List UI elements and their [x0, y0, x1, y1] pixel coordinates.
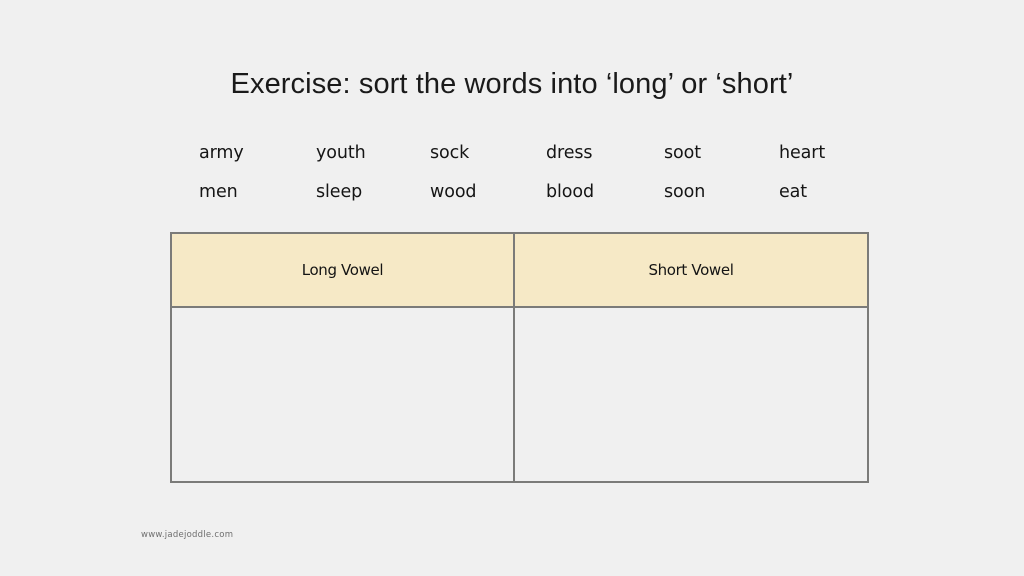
word-item-sleep[interactable]: sleep — [316, 177, 362, 207]
word-item-eat[interactable]: eat — [779, 177, 807, 207]
footer-website-url: www.jadejoddle.com — [141, 530, 233, 540]
word-bank-row: army youth sock dress soot heart — [190, 138, 850, 177]
long-vowel-drop-area[interactable] — [172, 308, 513, 481]
sort-table-cell-long-vowel[interactable] — [172, 308, 515, 481]
page-title: Exercise: sort the words into ‘long’ or … — [0, 66, 1024, 102]
word-item-soot[interactable]: soot — [664, 138, 701, 168]
word-bank-row: men sleep wood blood soon eat — [190, 177, 850, 216]
word-item-soon[interactable]: soon — [664, 177, 705, 207]
sort-table-header-short-vowel: Short Vowel — [515, 234, 867, 306]
word-item-men[interactable]: men — [199, 177, 238, 207]
word-item-wood[interactable]: wood — [430, 177, 476, 207]
word-item-army[interactable]: army — [199, 138, 244, 168]
word-item-youth[interactable]: youth — [316, 138, 366, 168]
sort-table-header-label: Long Vowel — [302, 261, 384, 279]
sort-table-cell-short-vowel[interactable] — [515, 308, 867, 481]
word-item-sock[interactable]: sock — [430, 138, 469, 168]
word-item-blood[interactable]: blood — [546, 177, 594, 207]
sort-table-header-long-vowel: Long Vowel — [172, 234, 515, 306]
sort-table-header-row: Long Vowel Short Vowel — [172, 234, 867, 308]
word-item-dress[interactable]: dress — [546, 138, 592, 168]
word-bank: army youth sock dress soot heart men sle… — [190, 138, 850, 216]
short-vowel-drop-area[interactable] — [515, 308, 867, 481]
sort-table-body-row — [172, 308, 867, 481]
sort-table-header-label: Short Vowel — [648, 261, 733, 279]
word-item-heart[interactable]: heart — [779, 138, 825, 168]
slide-canvas: Exercise: sort the words into ‘long’ or … — [0, 0, 1024, 576]
sort-table: Long Vowel Short Vowel — [170, 232, 869, 483]
